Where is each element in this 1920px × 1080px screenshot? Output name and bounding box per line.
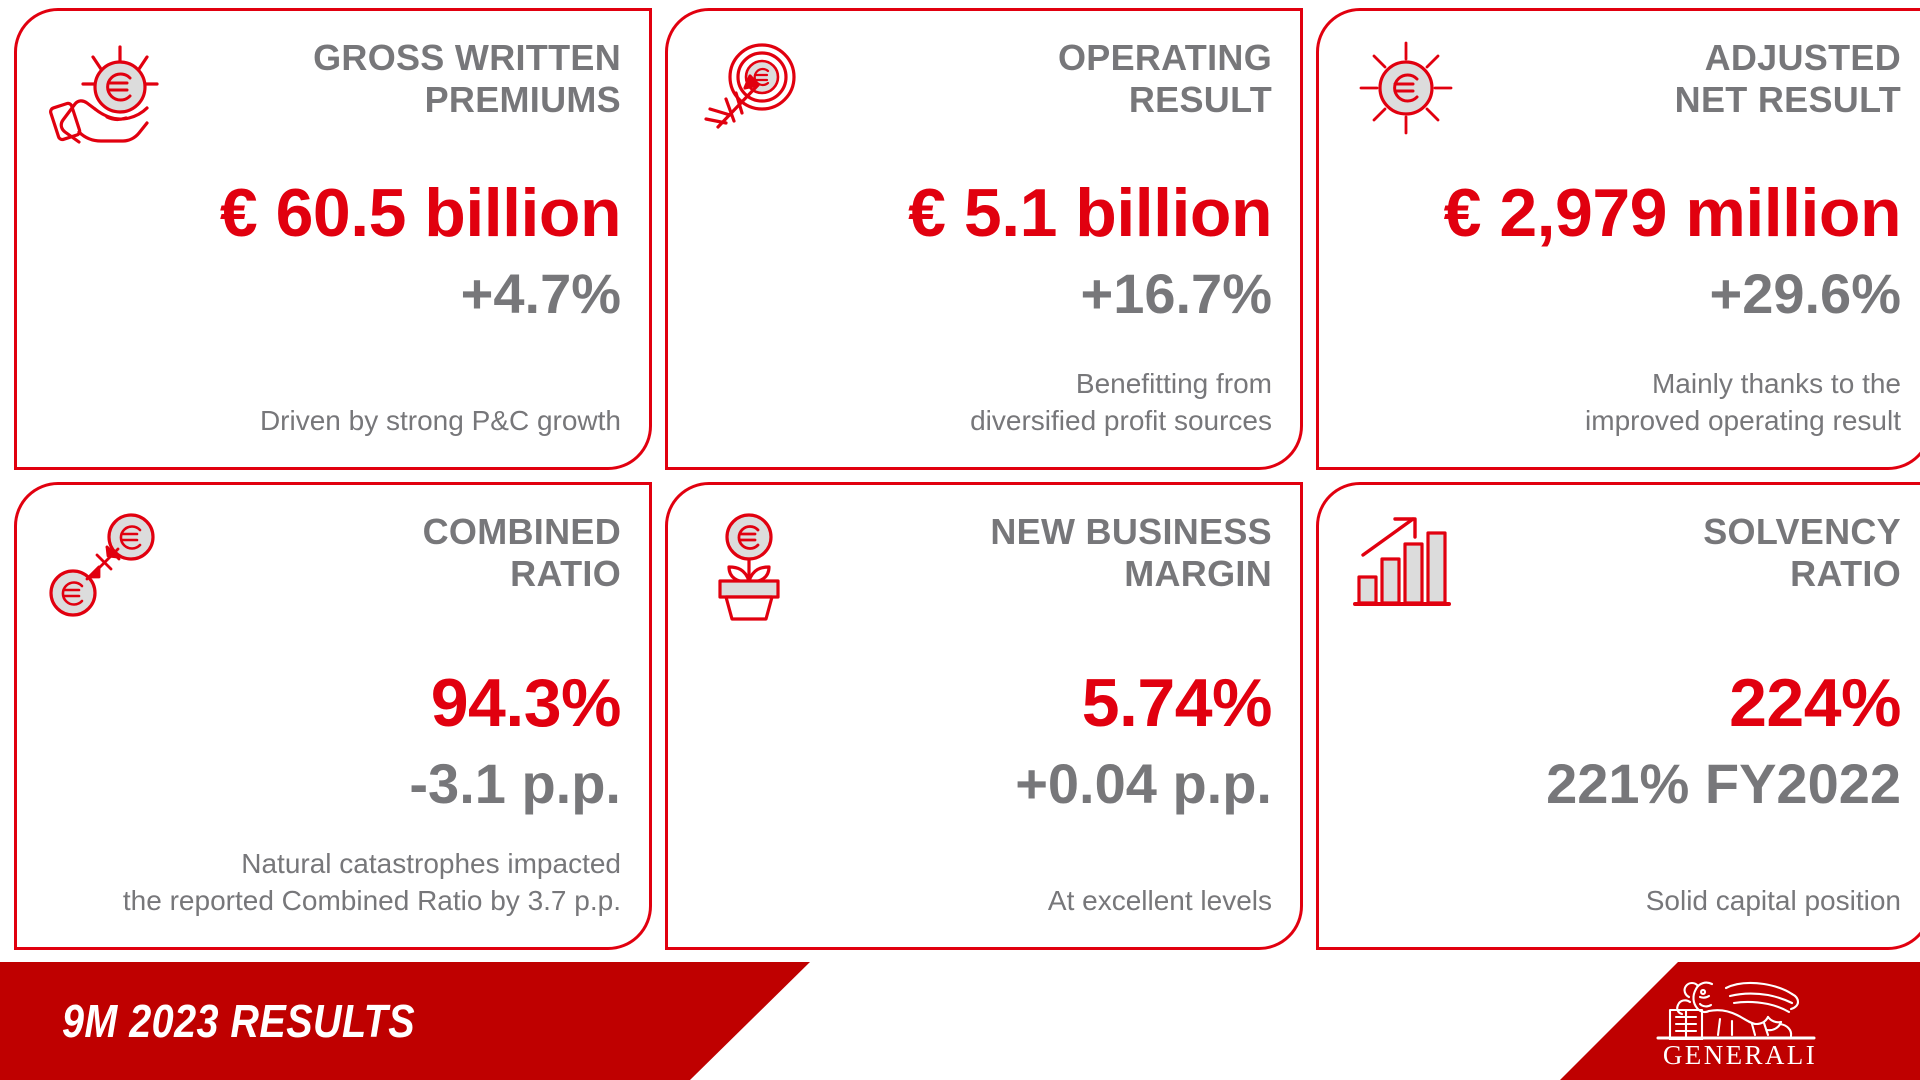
card-note: Solid capital position	[1347, 883, 1901, 921]
footer: 9M 2023 RESULTS	[0, 962, 1920, 1080]
results-banner: 9M 2023 RESULTS	[0, 962, 810, 1080]
card-header: OPERATING RESULT	[696, 33, 1272, 153]
two-euro-coins-arrows-icon	[45, 507, 163, 619]
banner-title: 9M 2023 RESULTS	[62, 994, 415, 1048]
card-value: € 5.1 billion	[696, 179, 1272, 247]
card-title: GROSS WRITTEN PREMIUMS	[163, 33, 621, 121]
card-title: ADJUSTED NET RESULT	[1465, 33, 1901, 121]
hand-holding-euro-coin-icon	[45, 33, 163, 145]
card-change: +4.7%	[45, 265, 621, 324]
card-title: COMBINED RATIO	[163, 507, 621, 595]
card-change: +0.04 p.p.	[696, 755, 1272, 814]
card-header: COMBINED RATIO	[45, 507, 621, 627]
card-title: OPERATING RESULT	[814, 33, 1272, 121]
kpi-card-grid: GROSS WRITTEN PREMIUMS € 60.5 billion +4…	[14, 8, 1906, 958]
card-value: 94.3%	[45, 669, 621, 737]
card-value: € 60.5 billion	[45, 179, 621, 247]
target-arrow-euro-icon	[696, 33, 814, 145]
card-header: SOLVENCY RATIO	[1347, 507, 1901, 627]
kpi-card-combined-ratio[interactable]: COMBINED RATIO 94.3% -3.1 p.p. Natural c…	[14, 482, 652, 950]
card-header: NEW BUSINESS MARGIN	[696, 507, 1272, 627]
generali-logo[interactable]: GENERALI	[1560, 962, 1920, 1080]
card-value: 224%	[1347, 669, 1901, 737]
card-header: GROSS WRITTEN PREMIUMS	[45, 33, 621, 153]
kpi-card-new-business-margin[interactable]: NEW BUSINESS MARGIN 5.74% +0.04 p.p. At …	[665, 482, 1303, 950]
potted-plant-euro-icon	[696, 507, 814, 619]
card-change: -3.1 p.p.	[45, 755, 621, 814]
generali-wordmark: GENERALI	[1663, 1042, 1817, 1069]
card-note: At excellent levels	[696, 883, 1272, 921]
kpi-card-gross-written-premiums[interactable]: GROSS WRITTEN PREMIUMS € 60.5 billion +4…	[14, 8, 652, 470]
card-note: Benefitting from diversified profit sour…	[696, 366, 1272, 441]
growth-bar-chart-icon	[1347, 507, 1465, 619]
card-title: NEW BUSINESS MARGIN	[814, 507, 1272, 595]
card-value: € 2,979 million	[1347, 179, 1901, 247]
sun-euro-coin-icon	[1347, 33, 1465, 145]
winged-lion-icon	[1640, 974, 1840, 1040]
card-change: +29.6%	[1347, 265, 1901, 324]
kpi-card-operating-result[interactable]: OPERATING RESULT € 5.1 billion +16.7% Be…	[665, 8, 1303, 470]
card-note: Mainly thanks to the improved operating …	[1347, 366, 1901, 441]
kpi-card-adjusted-net-result[interactable]: ADJUSTED NET RESULT € 2,979 million +29.…	[1316, 8, 1920, 470]
card-value: 5.74%	[696, 669, 1272, 737]
card-change: 221% FY2022	[1347, 755, 1901, 814]
slide-root: GROSS WRITTEN PREMIUMS € 60.5 billion +4…	[0, 0, 1920, 1080]
card-change: +16.7%	[696, 265, 1272, 324]
card-note: Natural catastrophes impacted the report…	[45, 846, 621, 921]
card-header: ADJUSTED NET RESULT	[1347, 33, 1901, 153]
card-note: Driven by strong P&C growth	[45, 403, 621, 441]
card-title: SOLVENCY RATIO	[1465, 507, 1901, 595]
kpi-card-solvency-ratio[interactable]: SOLVENCY RATIO 224% 221% FY2022 Solid ca…	[1316, 482, 1920, 950]
